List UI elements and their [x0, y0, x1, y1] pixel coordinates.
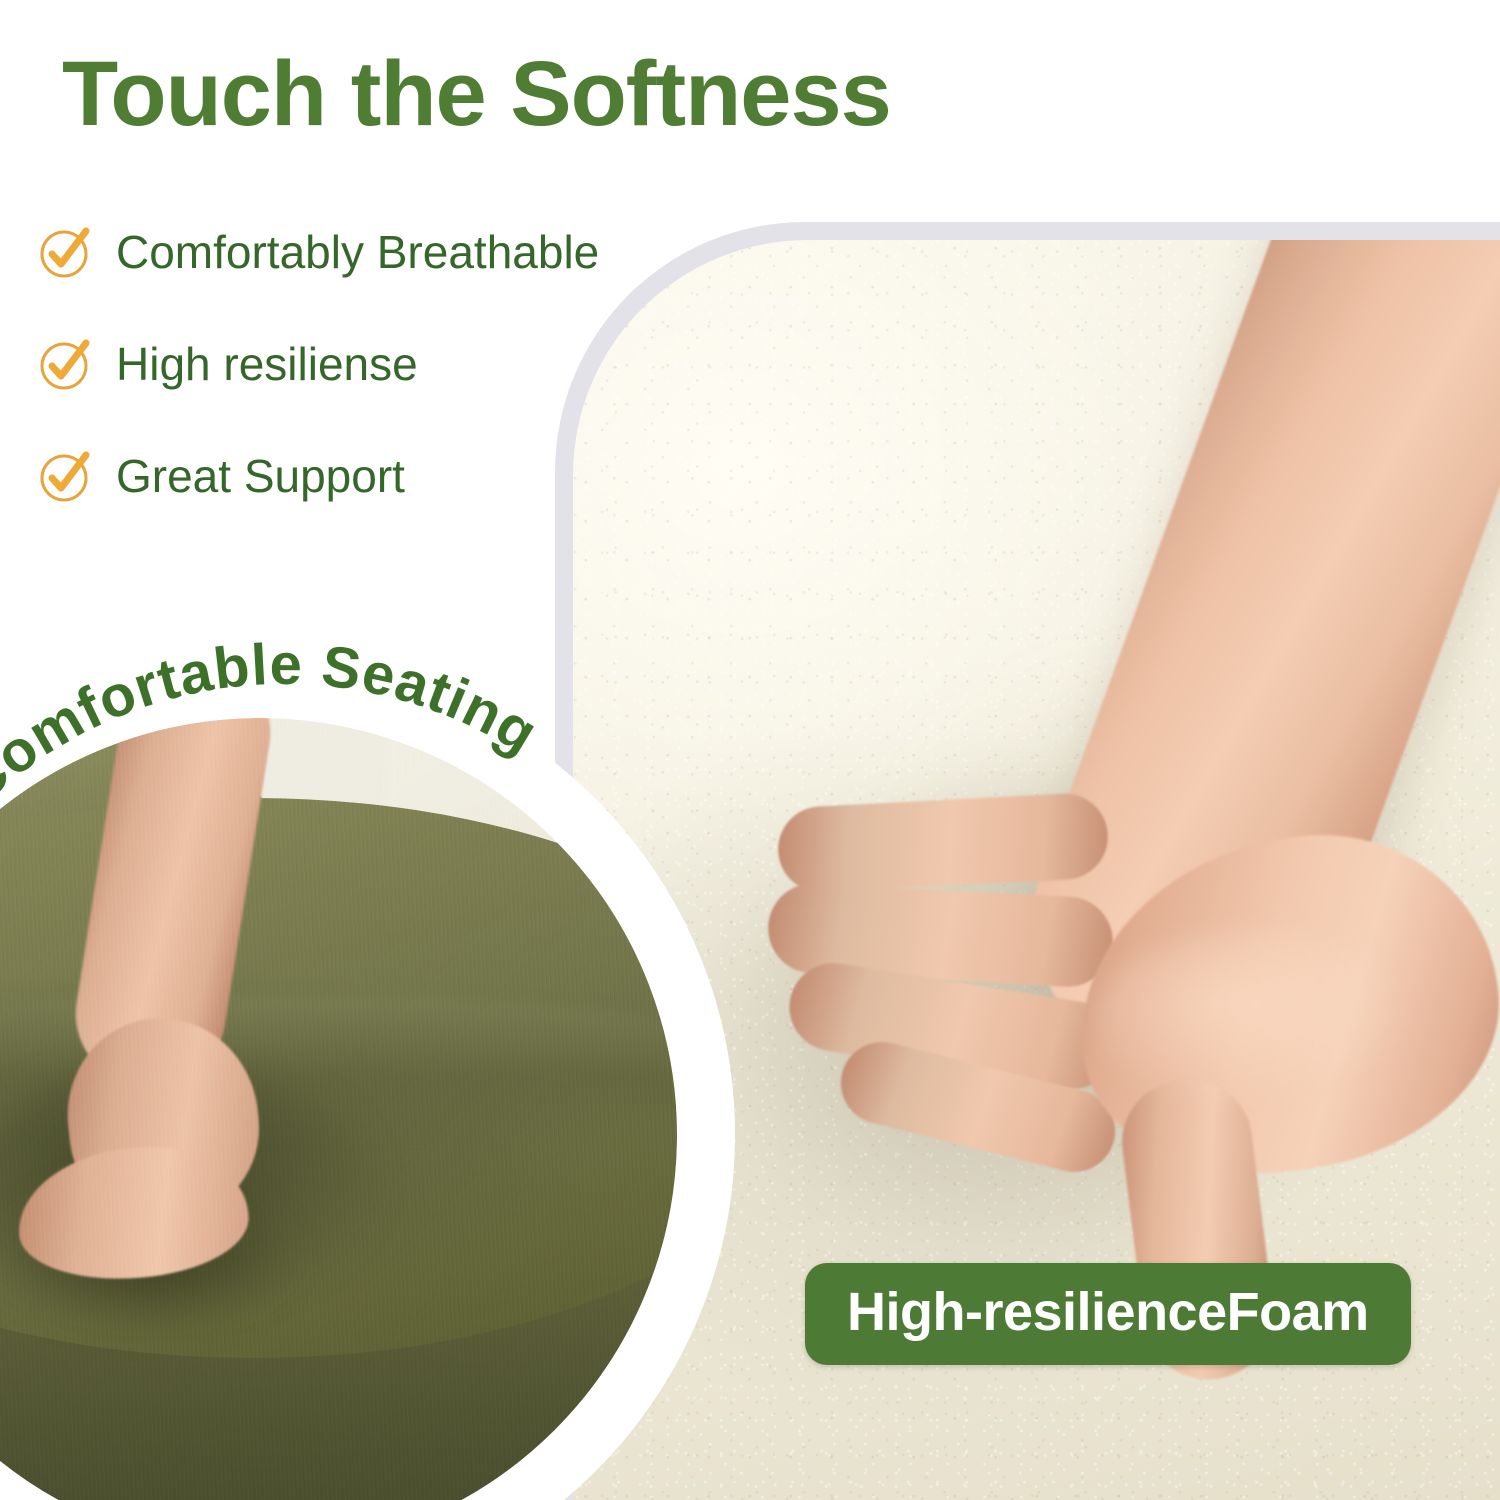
status-badge: High-resilienceFoam [805, 1263, 1411, 1365]
inset-photo-foot-on-cushion [0, 718, 677, 1500]
feature-label: Great Support [116, 449, 405, 503]
feature-item: Great Support [36, 420, 656, 532]
inset-photo-frame [0, 660, 735, 1500]
feature-label: Comfortably Breathable [116, 225, 599, 279]
feature-label: High resiliense [116, 337, 418, 391]
feature-item: Comfortably Breathable [36, 196, 656, 308]
knuckle-highlight [1093, 930, 1423, 1110]
finger-index [776, 791, 1110, 894]
feature-list: Comfortably Breathable High resiliense G… [36, 196, 656, 532]
page-title: Touch the Softness [62, 46, 891, 143]
check-circle-icon [36, 447, 94, 505]
product-feature-banner: Cloudy Comfortable Seating Touch the Sof… [0, 0, 1500, 1500]
cushion-nap-texture [0, 718, 677, 1500]
check-circle-icon [36, 223, 94, 281]
feature-item: High resiliense [36, 308, 656, 420]
check-circle-icon [36, 335, 94, 393]
badge-label: High-resilienceFoam [847, 1282, 1369, 1342]
